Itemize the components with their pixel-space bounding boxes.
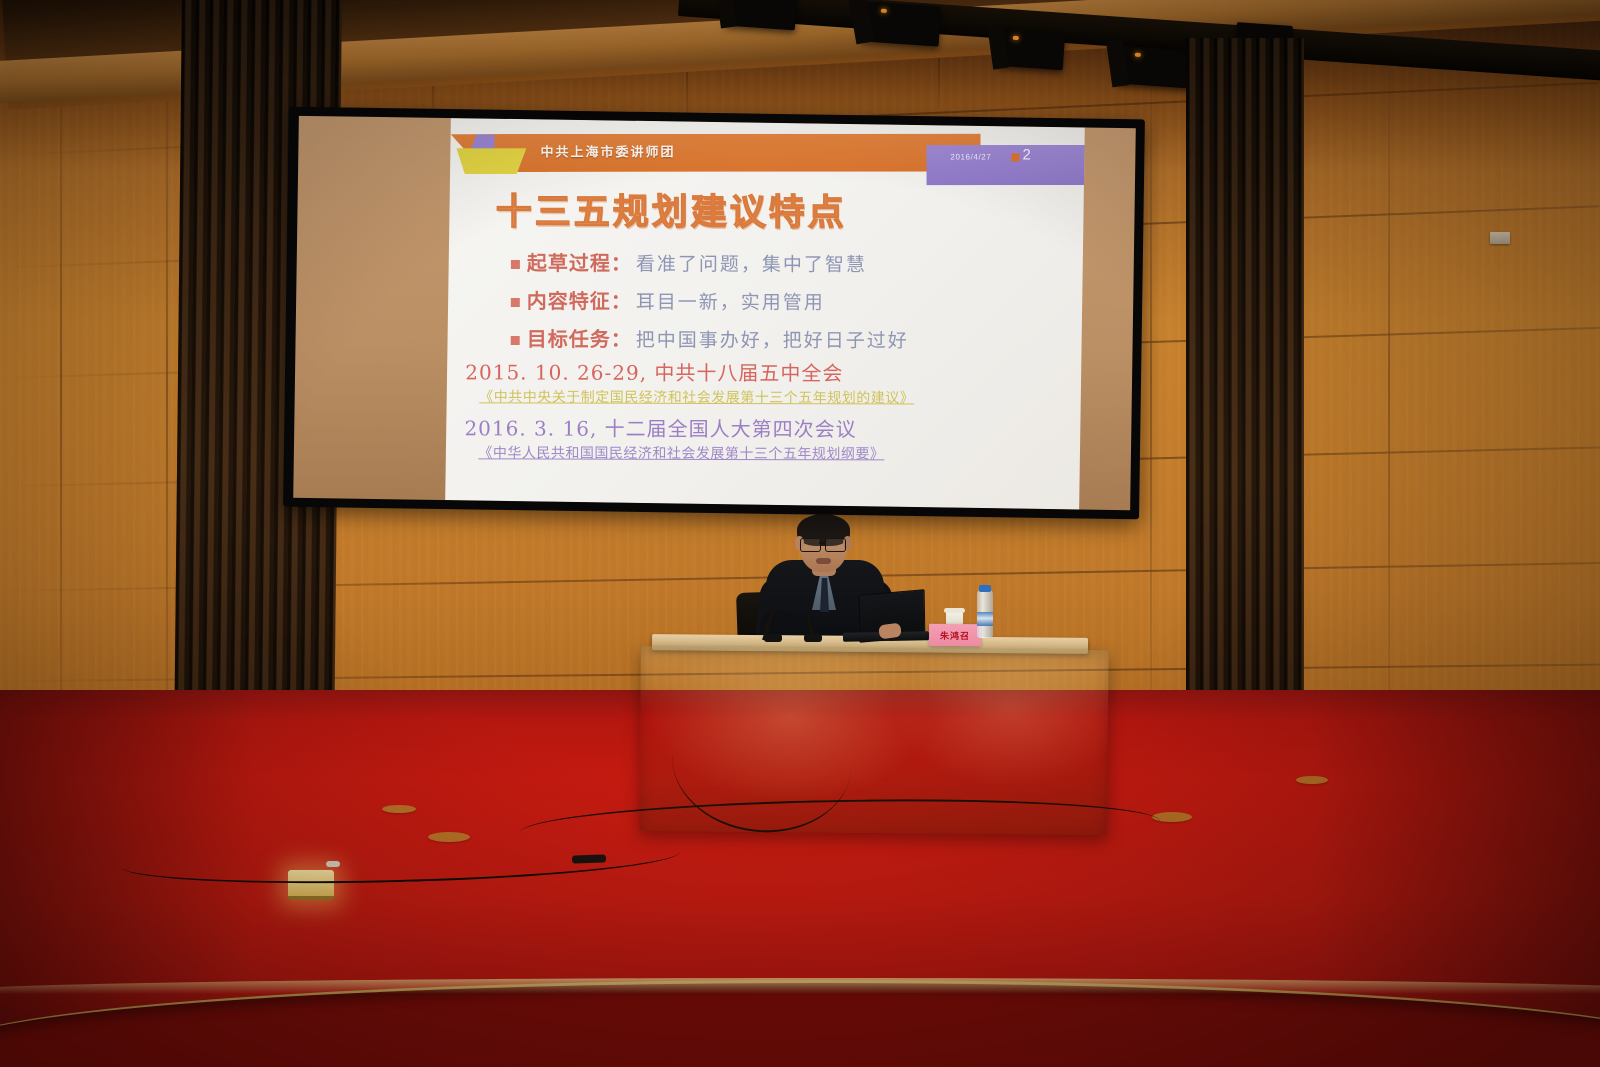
reference-document: 《中华人民共和国国民经济和社会发展第十三个五年规划纲要》	[478, 442, 1064, 464]
projection-screen: 中共上海市委讲师团 2016/4/27 2 十三五规划建议特点 起草过程： 看准…	[283, 107, 1145, 520]
reference-document: 《中共中央关于制定国民经济和社会发展第十三个五年规划的建议》	[479, 386, 1065, 408]
bullet-value: 耳目一新，实用管用	[636, 287, 825, 314]
speaker-mouth	[816, 558, 831, 564]
bullet-square-icon	[511, 336, 520, 345]
water-bottle-label	[977, 612, 993, 626]
floor-socket-box	[382, 805, 416, 813]
floor-socket-box	[1296, 776, 1328, 784]
bullet-item: 目标任务： 把中国事办好，把好日子过好	[511, 323, 1051, 353]
slide-page-number: 2	[1023, 147, 1031, 164]
water-bottle-cap	[979, 585, 991, 592]
cable-connector	[326, 861, 340, 867]
bullet-key: 起草过程：	[527, 247, 632, 276]
bullet-item: 内容特征： 耳目一新，实用管用	[511, 285, 1051, 315]
slide-bullet-list: 起草过程： 看准了问题，集中了智慧 内容特征： 耳目一新，实用管用 目标任务： …	[511, 247, 1051, 362]
slide-date-label: 2016/4/27	[950, 152, 991, 161]
reference-meeting: 2015. 10. 26-29, 中共十八届五中全会	[465, 356, 1065, 387]
reference-meeting: 2016. 3. 16, 十二届全国人大第四次会议	[464, 412, 1064, 443]
cable-connector	[572, 854, 606, 863]
microphone-base	[764, 634, 782, 642]
slide-header-band	[451, 134, 981, 172]
bullet-key: 内容特征：	[527, 285, 632, 314]
stage-light	[997, 30, 1065, 71]
slide-title: 十三五规划建议特点	[496, 183, 847, 236]
microphone-base	[804, 634, 822, 642]
reference-block: 2016. 3. 16, 十二届全国人大第四次会议 《中华人民共和国国民经济和社…	[464, 412, 1064, 464]
screen-surface: 中共上海市委讲师团 2016/4/27 2 十三五规划建议特点 起草过程： 看准…	[293, 116, 1136, 510]
glasses-icon	[798, 538, 848, 550]
presentation-slide: 中共上海市委讲师团 2016/4/27 2 十三五规划建议特点 起草过程： 看准…	[445, 118, 1085, 509]
bullet-square-icon	[511, 260, 520, 269]
bullet-item: 起草过程： 看准了问题，集中了智慧	[511, 247, 1051, 277]
bullet-key: 目标任务：	[527, 323, 632, 352]
lecture-hall-scene: 中共上海市委讲师团 2016/4/27 2 十三五规划建议特点 起草过程： 看准…	[0, 0, 1600, 1067]
bullet-square-icon	[511, 298, 520, 307]
wall-switch-plate[interactable]	[1490, 232, 1510, 244]
stage-light	[1117, 45, 1193, 88]
slide-header-accent	[927, 145, 1085, 185]
bullet-value: 看准了问题，集中了智慧	[636, 249, 867, 277]
bullet-value: 把中国事办好，把好日子过好	[636, 325, 909, 353]
table-skirt-sheen	[639, 646, 1109, 835]
slide-organization-label: 中共上海市委讲师团	[541, 141, 676, 160]
speaker-nameplate: 朱鸿召	[929, 624, 981, 646]
stage-light	[861, 1, 942, 46]
teacup-lid	[944, 608, 965, 613]
stage-curtain-right	[1186, 38, 1304, 738]
reference-block: 2015. 10. 26-29, 中共十八届五中全会 《中共中央关于制定国民经济…	[465, 356, 1065, 408]
stage-light	[725, 0, 797, 30]
page-marker-dot	[1011, 153, 1019, 161]
nameplate-text: 朱鸿召	[940, 628, 970, 641]
slide-header-yellow-tab	[456, 148, 526, 174]
